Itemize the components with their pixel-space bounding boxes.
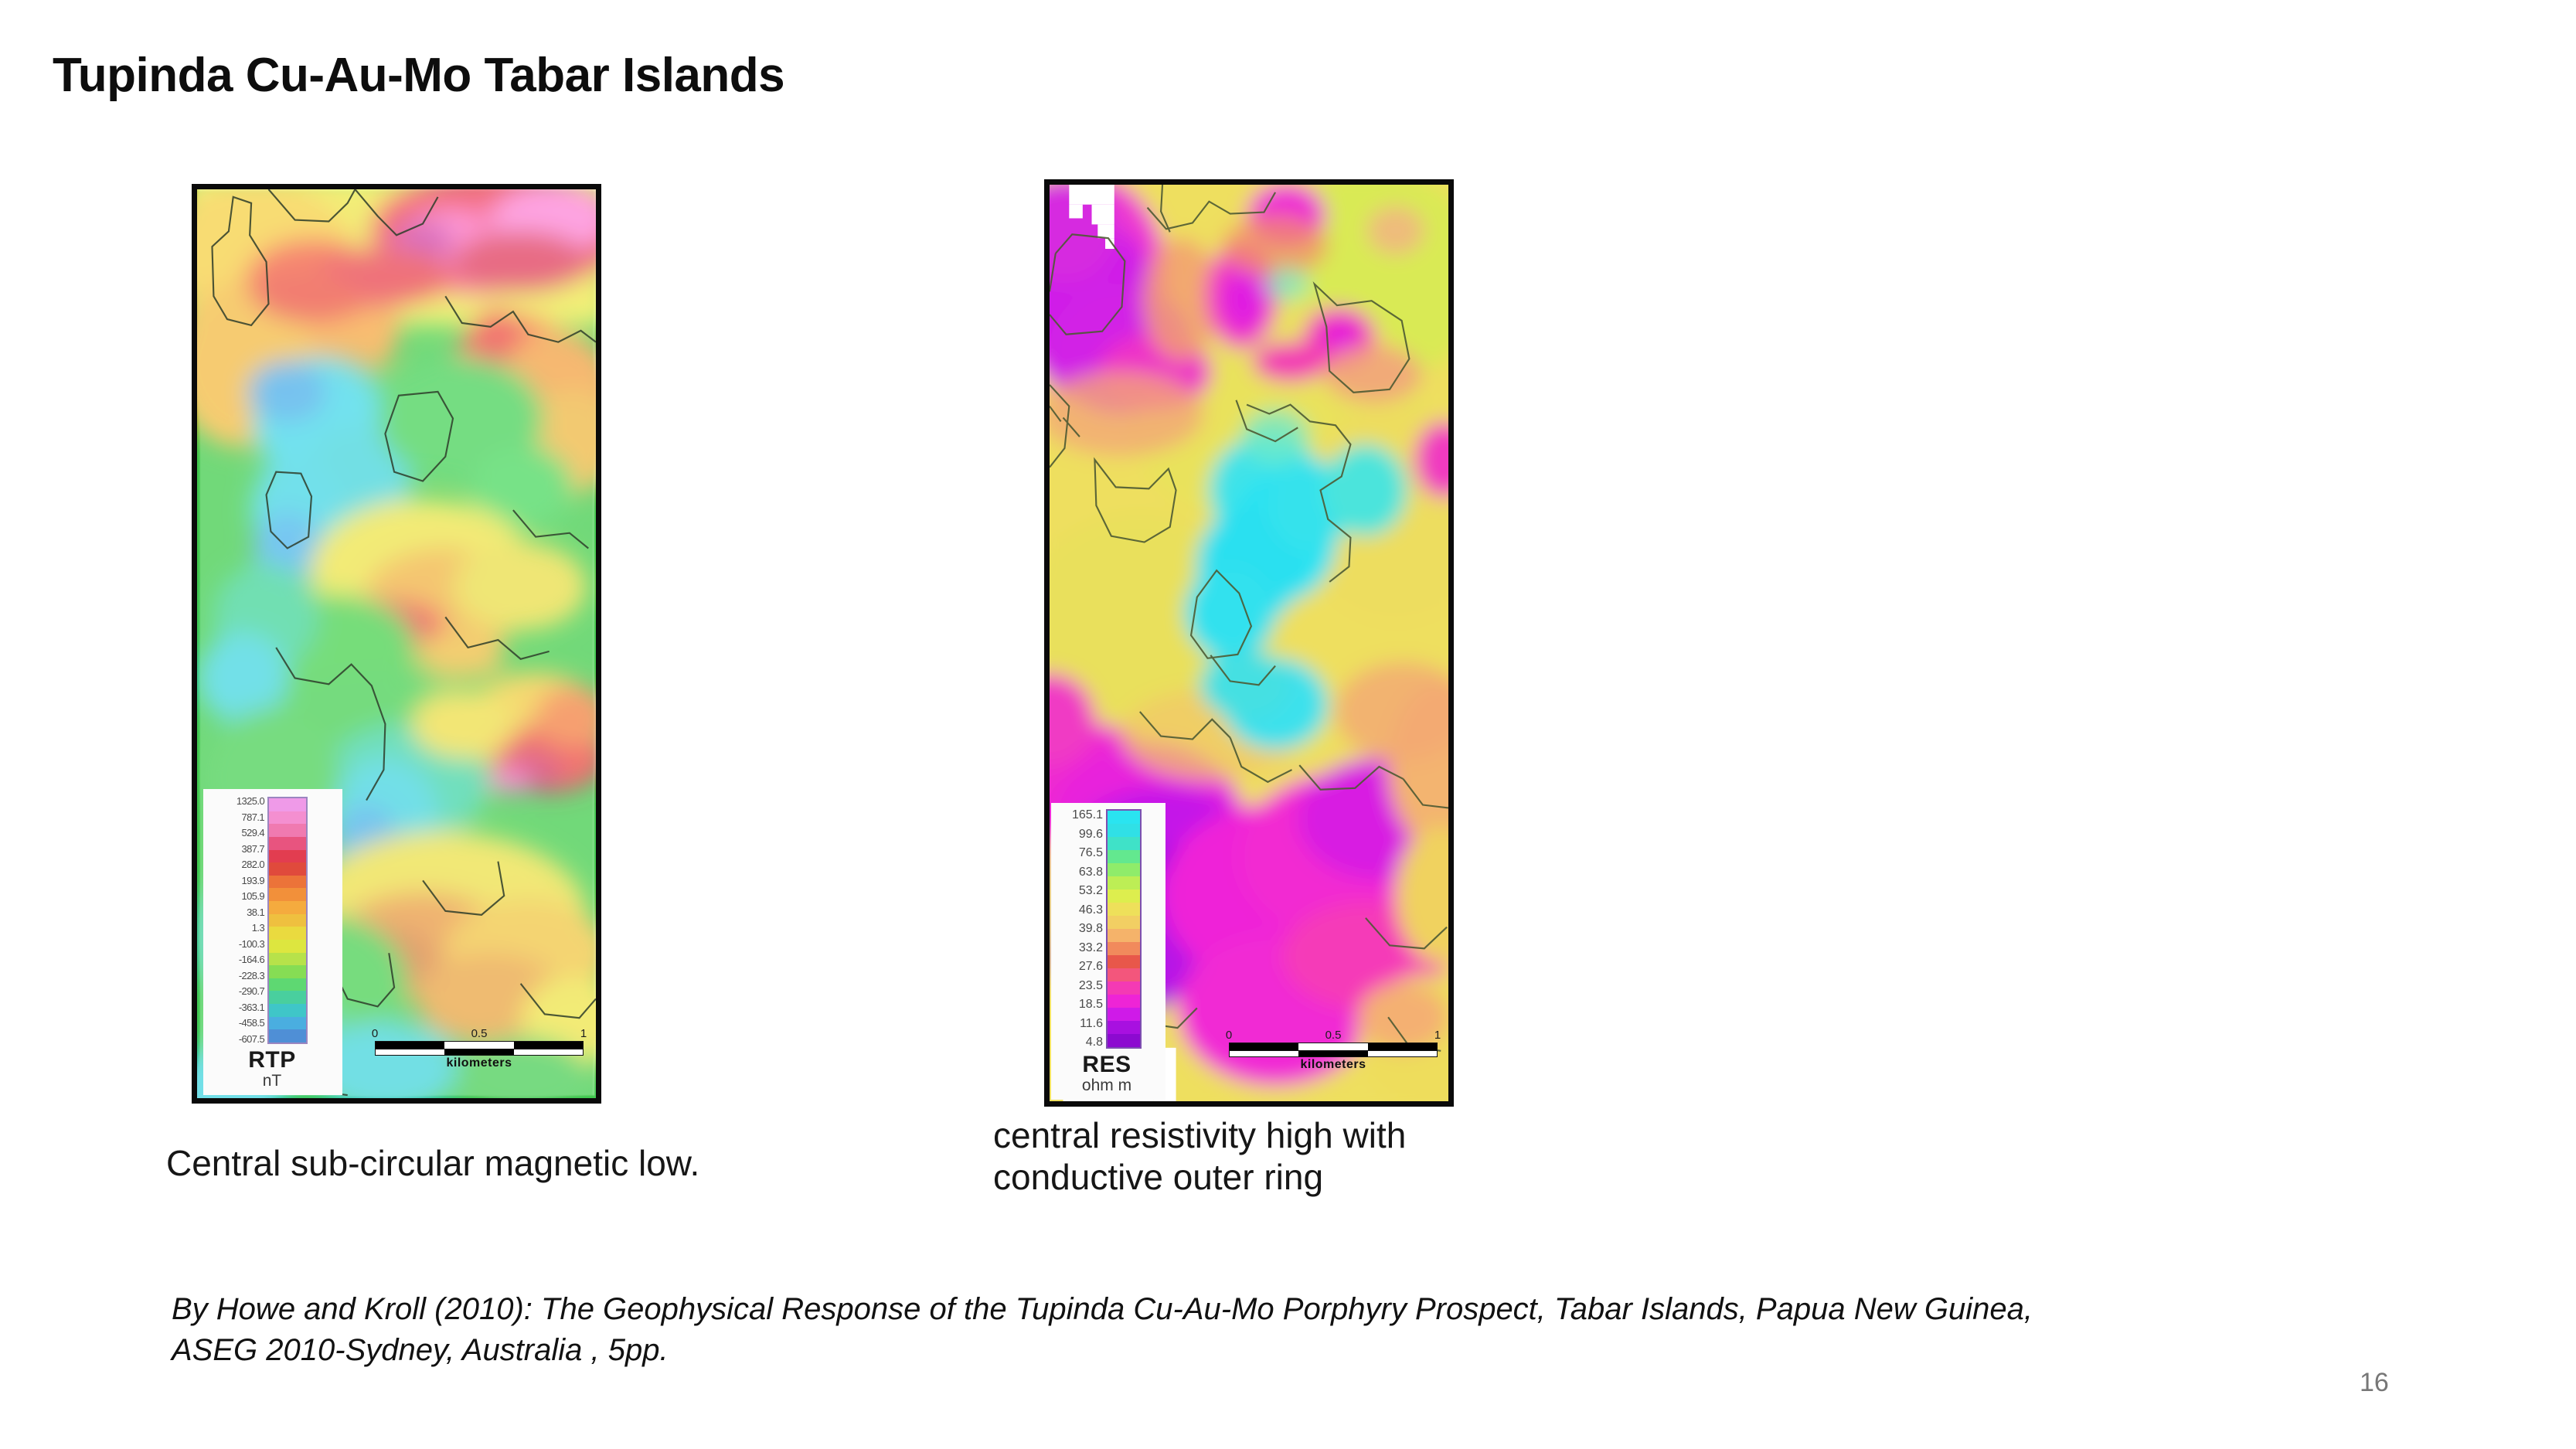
- legend-swatch: [269, 824, 306, 837]
- legend-swatch: [269, 927, 306, 940]
- attribution-text: By Howe and Kroll (2010): The Geophysica…: [172, 1289, 2042, 1371]
- scalebar-unit-res: kilometers: [1229, 1058, 1438, 1072]
- legend-swatch: [269, 876, 306, 889]
- caption-rtp: Central sub-circular magnetic low.: [166, 1142, 699, 1184]
- scalebar-unit-rtp: kilometers: [375, 1056, 584, 1070]
- legend-swatch: [269, 914, 306, 927]
- map-frame-rtp[interactable]: 1325.0 787.1 529.4 387.7 282.0 193.9 105…: [192, 184, 601, 1104]
- legend-swatch: [1108, 889, 1140, 903]
- legend-swatch: [269, 940, 306, 953]
- legend-unit-res: ohm m: [1082, 1077, 1131, 1095]
- legend-swatch: [269, 798, 306, 811]
- figure-res-resistivity: 165.1 99.6 76.5 63.8 53.2 46.3 39.8 33.2…: [1044, 179, 1454, 1107]
- caption-res: central resistivity high with conductive…: [993, 1114, 1581, 1199]
- legend-swatch: [1108, 903, 1140, 916]
- scalebar-rtp: 0 0.5 1 kilometers: [375, 1027, 584, 1070]
- legend-swatch: [269, 862, 306, 876]
- legend-swatch: [269, 1004, 306, 1017]
- page-number: 16: [2360, 1368, 2389, 1398]
- legend-swatch: [269, 1029, 306, 1043]
- legend-swatch: [269, 837, 306, 850]
- legend-swatch: [1108, 811, 1140, 824]
- legend-swatch: [269, 888, 306, 901]
- legend-swatch: [269, 811, 306, 825]
- legend-panel-rtp: 1325.0 787.1 529.4 387.7 282.0 193.9 105…: [203, 789, 342, 1095]
- legend-swatch: [1108, 929, 1140, 942]
- legend-swatch: [1108, 916, 1140, 929]
- legend-swatch: [1108, 876, 1140, 889]
- legend-swatch: [1108, 955, 1140, 968]
- page-title: Tupinda Cu-Au-Mo Tabar Islands: [53, 48, 784, 103]
- legend-title-rtp: RTP: [248, 1047, 296, 1073]
- legend-swatch: [1108, 1034, 1140, 1047]
- legend-swatch: [1108, 968, 1140, 981]
- legend-swatch: [1108, 995, 1140, 1008]
- legend-swatch: [269, 850, 306, 863]
- figure-rtp-magnetic: 1325.0 787.1 529.4 387.7 282.0 193.9 105…: [192, 184, 601, 1104]
- legend-swatch: [269, 978, 306, 992]
- scalebar-res: 0 0.5 1 kilometers: [1229, 1029, 1438, 1072]
- legend-colorbar-res: [1106, 809, 1142, 1049]
- legend-swatch: [1108, 850, 1140, 863]
- legend-ticks-res: 165.1 99.6 76.5 63.8 53.2 46.3 39.8 33.2…: [1072, 809, 1106, 1049]
- slide: Tupinda Cu-Au-Mo Tabar Islands: [0, 0, 2576, 1449]
- legend-swatch: [1108, 824, 1140, 837]
- legend-ticks-rtp: 1325.0 787.1 529.4 387.7 282.0 193.9 105…: [237, 797, 267, 1044]
- legend-swatch: [269, 965, 306, 978]
- legend-swatch: [269, 991, 306, 1004]
- legend-swatch: [1108, 942, 1140, 955]
- legend-swatch: [269, 953, 306, 966]
- map-frame-res[interactable]: 165.1 99.6 76.5 63.8 53.2 46.3 39.8 33.2…: [1044, 179, 1454, 1107]
- legend-panel-res: 165.1 99.6 76.5 63.8 53.2 46.3 39.8 33.2…: [1051, 803, 1165, 1100]
- legend-swatch: [1108, 1021, 1140, 1034]
- legend-swatch: [269, 901, 306, 914]
- legend-title-res: RES: [1082, 1052, 1131, 1078]
- legend-swatch: [269, 1017, 306, 1030]
- legend-colorbar-rtp: [267, 797, 308, 1044]
- legend-swatch: [1108, 1008, 1140, 1021]
- legend-swatch: [1108, 837, 1140, 850]
- legend-unit-rtp: nT: [263, 1072, 282, 1090]
- legend-swatch: [1108, 981, 1140, 995]
- legend-swatch: [1108, 863, 1140, 876]
